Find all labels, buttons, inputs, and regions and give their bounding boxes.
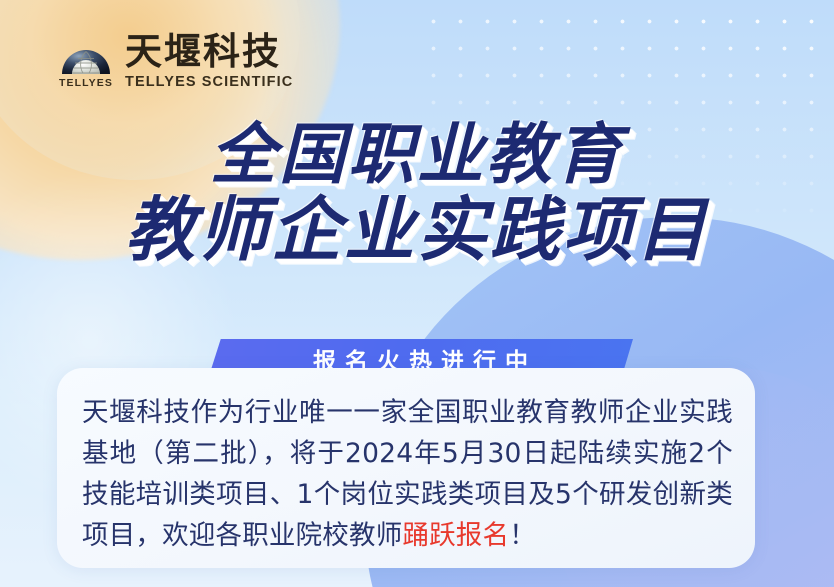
promo-poster: TELLYES 天堰科技 TELLYES SCIENTIFIC 全国职业教育 教… [0, 0, 834, 587]
brand-wordmark: 天堰科技 TELLYES SCIENTIFIC [125, 30, 293, 90]
headline-line-1: 全国职业教育 [0, 118, 834, 192]
description-card: 天堰科技作为行业唯一一家全国职业教育教师企业实践基地（第二批），将于2024年5… [57, 368, 755, 568]
headline-line-2: 教师企业实践项目 [0, 190, 834, 270]
description-segment-2: ！ [509, 520, 536, 551]
brand-name-cn: 天堰科技 [125, 31, 293, 72]
brand-name-en: TELLYES SCIENTIFIC [125, 74, 293, 90]
logo-mark-label: TELLYES [58, 77, 114, 89]
description-highlight: 踊跃报名 [402, 520, 509, 551]
brand-logo: TELLYES 天堰科技 TELLYES SCIENTIFIC [58, 30, 293, 90]
globe-sphere-icon: TELLYES [58, 30, 114, 86]
description-text: 天堰科技作为行业唯一一家全国职业教育教师企业实践基地（第二批），将于2024年5… [82, 392, 733, 556]
page-title: 全国职业教育 教师企业实践项目 [0, 118, 834, 270]
